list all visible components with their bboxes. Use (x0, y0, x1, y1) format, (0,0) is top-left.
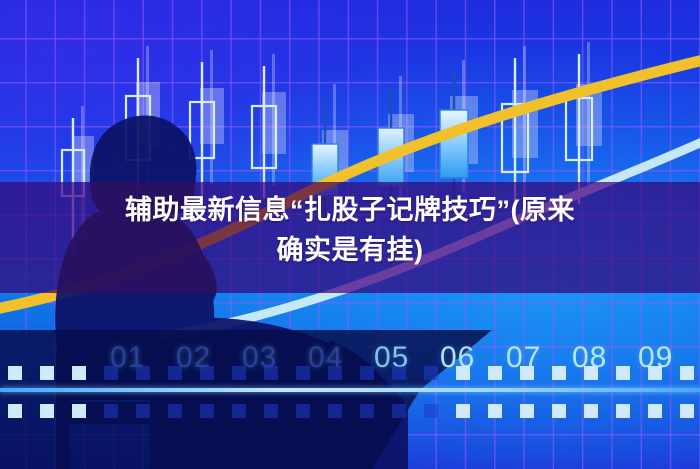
strip-dot (136, 366, 150, 380)
strip-dot (328, 404, 342, 418)
strip-dot (584, 366, 598, 380)
strip-dot (424, 404, 438, 418)
strip-dot (104, 366, 118, 380)
strip-dot (520, 366, 534, 380)
dot-row-bottom (0, 404, 700, 418)
strip-dot (360, 366, 374, 380)
strip-dot (72, 404, 86, 418)
banner-image: 010203040506070809 辅助最新信息“扎股子记牌技巧”(原来 确实… (0, 0, 700, 469)
strip-dot (328, 366, 342, 380)
strip-dot (232, 366, 246, 380)
dot-row-top (0, 366, 700, 380)
strip-dot (168, 404, 182, 418)
strip-dot (392, 404, 406, 418)
strip-dot (488, 404, 502, 418)
strip-dot (296, 366, 310, 380)
strip-dot (200, 404, 214, 418)
strip-dot (648, 404, 662, 418)
strip-dot (264, 366, 278, 380)
strip-dot (648, 366, 662, 380)
strip-dot (456, 404, 470, 418)
strip-dot (296, 404, 310, 418)
strip-dot (40, 404, 54, 418)
strip-dot (680, 366, 694, 380)
strip-dot (552, 404, 566, 418)
strip-dot (8, 404, 22, 418)
strip-dot (200, 366, 214, 380)
strip-dot (40, 366, 54, 380)
strip-dot (104, 404, 118, 418)
strip-dot (456, 366, 470, 380)
strip-dot (264, 404, 278, 418)
strip-dot (616, 404, 630, 418)
strip-dot (424, 366, 438, 380)
strip-dot (680, 404, 694, 418)
strip-dot (552, 366, 566, 380)
strip-dot (392, 366, 406, 380)
strip-dot (232, 404, 246, 418)
strip-dot (136, 404, 150, 418)
strip-dot (72, 366, 86, 380)
strip-dot (520, 404, 534, 418)
strip-dot (360, 404, 374, 418)
strip-dot (168, 366, 182, 380)
strip-dot (584, 404, 598, 418)
separator-line (0, 388, 700, 392)
banner-title: 辅助最新信息“扎股子记牌技巧”(原来 确实是有挂) (0, 190, 700, 270)
strip-dot (488, 366, 502, 380)
strip-dot (616, 366, 630, 380)
strip-dot (8, 366, 22, 380)
